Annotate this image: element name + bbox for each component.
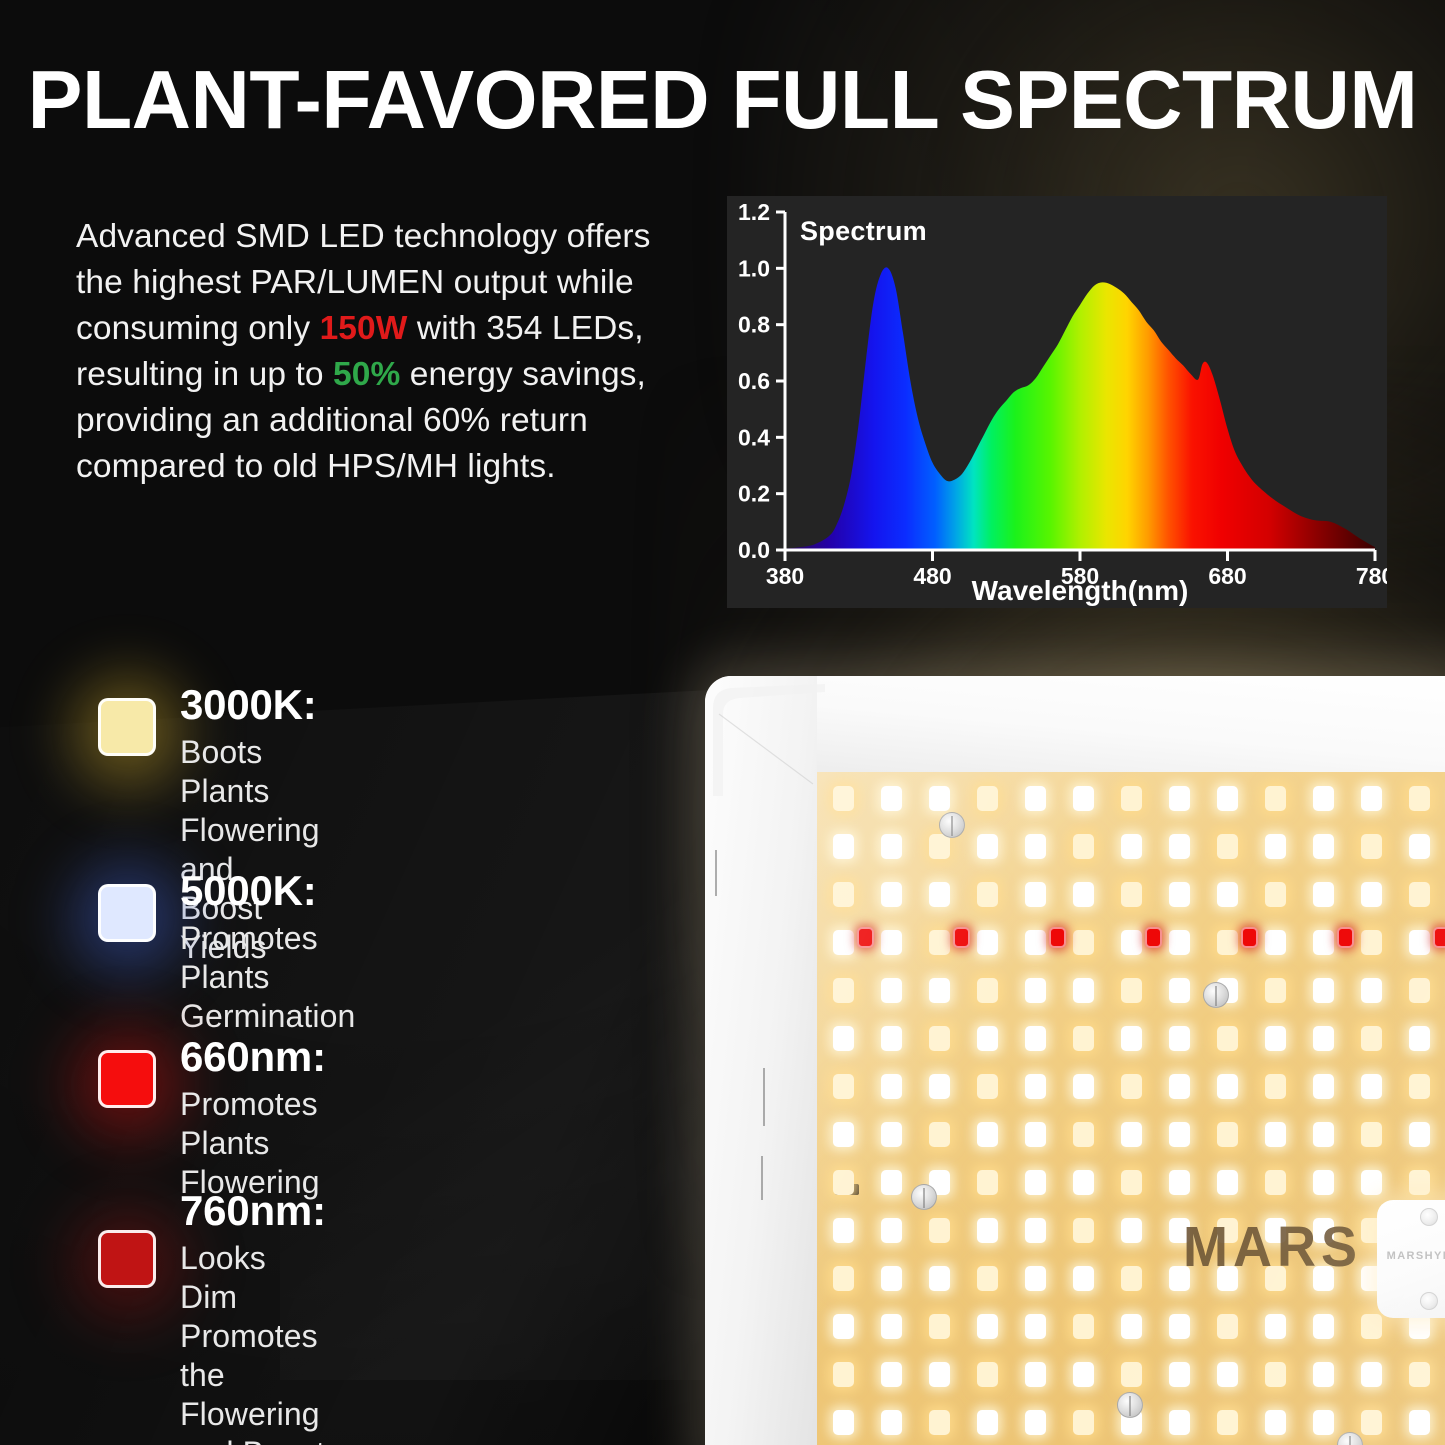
led-diode [929,1026,950,1051]
led-diode [1313,1026,1334,1051]
led-diode-red [1049,927,1066,948]
y-axis-tick: 1.2 [738,199,770,225]
led-diode [977,1314,998,1339]
led-diode [977,1410,998,1435]
led-diode [1361,1410,1382,1435]
led-diode [1121,1170,1142,1195]
led-diode [1169,882,1190,907]
spec-description: Promotes Plants Flowering [180,1085,326,1202]
led-diode [1073,1410,1094,1435]
panel-edge-tick [761,1156,763,1200]
led-chip-icon [98,884,156,942]
led-diode [929,1266,950,1291]
spec-title: 760nm: [180,1186,326,1236]
led-diode [1073,1266,1094,1291]
led-diode [1121,1026,1142,1051]
led-diode [881,978,902,1003]
highlight-power: 150W [320,310,408,347]
spec-title: 3000K: [180,680,320,730]
spectrum-chart: 0.00.20.40.60.81.01.2 380480580680780 Wa… [727,196,1387,608]
led-diode [1265,834,1286,859]
screw-icon [1337,1432,1363,1445]
led-diode [1169,978,1190,1003]
led-diode [1217,1410,1238,1435]
spectrum-area [785,267,1375,550]
led-diode-red [1337,927,1354,948]
led-diode [1073,978,1094,1003]
led-diode [881,1362,902,1387]
led-diode [1217,786,1238,811]
led-diode [1361,834,1382,859]
x-axis-label: Wavelength(nm) [972,575,1189,606]
led-diode [1073,1362,1094,1387]
led-swatch-660nm [76,1032,180,1136]
led-diode [833,1314,854,1339]
led-diode [1217,882,1238,907]
led-diode [977,1170,998,1195]
led-diode [833,1122,854,1147]
spec-description-line-1: Boots Plants Flowering [180,733,320,850]
led-diode [977,1026,998,1051]
led-diode [929,1074,950,1099]
led-diode [929,834,950,859]
product-led-panel: MARSHY MARSHYDRO [705,676,1445,1445]
led-diode [1073,1026,1094,1051]
led-diode [929,930,950,955]
led-diode [977,834,998,859]
led-diode [1025,1074,1046,1099]
led-diode [881,786,902,811]
led-diode [1073,786,1094,811]
led-chip-icon [98,1050,156,1108]
led-diode [977,1074,998,1099]
led-diode [1025,1362,1046,1387]
led-diode [1073,1074,1094,1099]
led-diode [833,1170,854,1195]
spec-text-660nm: 660nm: Promotes Plants Flowering [180,1032,326,1202]
led-diode [1169,1170,1190,1195]
led-diode [833,1218,854,1243]
led-diode [1361,1170,1382,1195]
led-diode [1073,1218,1094,1243]
description-paragraph: Advanced SMD LED technology offers the h… [76,214,688,490]
driver-screw-top-icon [1420,1208,1438,1226]
led-diode [977,1362,998,1387]
led-swatch-760nm [76,1212,180,1316]
led-diode-red [1433,927,1445,948]
led-diode [977,1266,998,1291]
led-diode [1265,930,1286,955]
led-diode [1025,882,1046,907]
led-diode [1121,1314,1142,1339]
led-diode [1361,1074,1382,1099]
screw-icon [939,812,965,838]
led-diode [1169,1314,1190,1339]
led-diode [1217,1314,1238,1339]
led-swatch-3000k [76,680,180,784]
led-diode [1265,786,1286,811]
led-diode [1121,1266,1142,1291]
spec-description-line-1: Promotes Plants Flowering [180,1085,326,1202]
led-diode [1313,1170,1334,1195]
led-diode [881,1026,902,1051]
led-diode [833,786,854,811]
spec-text-760nm: 760nm: Looks Dim Promotes the Flowering … [180,1186,326,1445]
led-diode [1361,786,1382,811]
spectrum-curve-group [785,267,1375,550]
led-diode [1073,1122,1094,1147]
led-diode [1025,1026,1046,1051]
led-diode [1217,930,1238,955]
led-diode [977,1122,998,1147]
y-axis-tick-labels: 0.00.20.40.60.81.01.2 [738,199,770,563]
led-board-sheen [817,772,1445,1445]
led-diode [1409,1362,1430,1387]
led-chip-icon [98,698,156,756]
led-diode [1409,1074,1430,1099]
led-swatch-5000k [76,866,180,970]
led-diode [929,1122,950,1147]
y-axis-tick: 0.6 [738,368,770,394]
led-diode [1313,882,1334,907]
led-diode-red [953,927,970,948]
led-diode [1409,834,1430,859]
led-diode [833,1362,854,1387]
led-diode [1025,1218,1046,1243]
led-diode [1217,1170,1238,1195]
led-diode [1073,834,1094,859]
led-diode [1073,882,1094,907]
led-diode [1217,1122,1238,1147]
led-diode-red [1241,927,1258,948]
led-chip-icon [98,1230,156,1288]
led-diode [1265,1362,1286,1387]
led-diode [1265,1410,1286,1435]
led-diode [1313,786,1334,811]
led-diode [929,786,950,811]
led-diode [881,1170,902,1195]
led-diode [1025,930,1046,955]
led-board: MARSHY MARSHYDRO [817,772,1445,1445]
spec-description-line-1: Promotes Plants Germination [180,919,355,1036]
led-diode [1265,1074,1286,1099]
y-axis-tick: 0.8 [738,312,770,338]
led-diode [1121,1122,1142,1147]
y-axis-tick: 1.0 [738,255,770,281]
page-title: PLANT-FAVORED FULL SPECTRUM [7,52,1438,148]
led-diode [977,930,998,955]
led-diode [1265,1314,1286,1339]
x-axis-tick: 380 [766,563,804,589]
led-diode [1169,1074,1190,1099]
panel-edge-tick [715,850,717,896]
led-diode [1217,1074,1238,1099]
led-diode [1313,834,1334,859]
led-diode [929,1410,950,1435]
led-diode [1313,1314,1334,1339]
led-diode [977,882,998,907]
led-diode [1313,978,1334,1003]
y-axis-tick: 0.0 [738,537,770,563]
led-diode [1409,882,1430,907]
led-diode [977,1218,998,1243]
led-diode [977,978,998,1003]
led-diode [1073,930,1094,955]
spec-description: Promotes Plants Germination [180,919,355,1036]
led-diode [1217,1362,1238,1387]
led-diode [1121,978,1142,1003]
driver-screw-bottom-icon [1420,1292,1438,1310]
led-diode [1409,1170,1430,1195]
led-diode [1169,1026,1190,1051]
led-diode [881,1314,902,1339]
led-diode [1313,930,1334,955]
led-diode [1361,1314,1382,1339]
screw-icon [1203,982,1229,1008]
led-diode [1217,834,1238,859]
product-infographic: PLANT-FAVORED FULL SPECTRUM Advanced SMD… [0,0,1445,1445]
y-axis-tick: 0.2 [738,481,770,507]
led-diode [1121,930,1142,955]
spec-description-line-1: Looks Dim Promotes the [180,1239,326,1395]
led-diode [1121,1362,1142,1387]
led-diode [833,1266,854,1291]
led-diode [1169,1410,1190,1435]
led-diode [1169,1362,1190,1387]
led-diode [1121,834,1142,859]
led-diode [1025,1410,1046,1435]
led-diode [1217,1026,1238,1051]
spec-title: 5000K: [180,866,355,916]
led-diode [1121,786,1142,811]
led-diode [881,930,902,955]
led-diode [881,1410,902,1435]
driver-module: MARSHYDRO [1377,1200,1445,1318]
led-diode [1265,978,1286,1003]
led-diode [1361,978,1382,1003]
led-diode [1121,1218,1142,1243]
x-axis-tick: 780 [1356,563,1387,589]
led-diode [881,834,902,859]
led-diode [1265,1122,1286,1147]
spec-title: 660nm: [180,1032,326,1082]
led-diode [1025,1266,1046,1291]
led-diode [1025,834,1046,859]
highlight-savings: 50% [333,356,400,393]
led-diode-red [857,927,874,948]
led-diode [833,1410,854,1435]
screw-icon [911,1184,937,1210]
led-diode [1409,1122,1430,1147]
led-diode [1313,1362,1334,1387]
led-diode [833,834,854,859]
led-diode [1313,1074,1334,1099]
led-diode [1409,1410,1430,1435]
x-axis-tick: 680 [1208,563,1246,589]
driver-label: MARSHYDRO [1377,1250,1445,1262]
screw-icon [1117,1392,1143,1418]
led-diode [1169,1122,1190,1147]
panel-corner-bevel [713,684,825,796]
led-diode [1265,1170,1286,1195]
led-diode [1361,930,1382,955]
led-diode [1313,1410,1334,1435]
spec-description: Looks Dim Promotes the Flowering and Boo… [180,1239,326,1445]
led-diode [833,930,854,955]
led-diode [1265,1026,1286,1051]
led-diode [1361,1122,1382,1147]
led-diode [1025,1170,1046,1195]
led-diode [1265,882,1286,907]
led-diode [881,882,902,907]
led-diode [833,1074,854,1099]
led-diode-red [1145,927,1162,948]
led-diode [1361,1362,1382,1387]
led-diode [1409,978,1430,1003]
led-diode [1025,978,1046,1003]
led-diode [929,978,950,1003]
led-diode [929,1218,950,1243]
led-diode [1025,1314,1046,1339]
led-diode [929,882,950,907]
led-diode [1073,1170,1094,1195]
led-diode [1025,786,1046,811]
led-diode [1409,1026,1430,1051]
led-diode [881,1122,902,1147]
led-diode [881,1218,902,1243]
led-diode [833,1026,854,1051]
led-diode [1025,1122,1046,1147]
led-diode [1409,930,1430,955]
led-diode [1361,882,1382,907]
panel-top-edge [797,676,1445,772]
panel-edge-tick [763,1068,765,1126]
led-diode [1313,1122,1334,1147]
led-diode [977,786,998,811]
spec-text-5000k: 5000K: Promotes Plants Germination [180,866,355,1036]
y-axis-tick: 0.4 [738,424,770,450]
led-diode [929,1314,950,1339]
led-diode [1121,882,1142,907]
led-diode [833,978,854,1003]
led-diode [1169,834,1190,859]
spec-description-line-2: Flowering and Boost Yields [180,1395,326,1445]
led-diode [1121,1074,1142,1099]
led-diode [1169,930,1190,955]
led-diode [1169,786,1190,811]
led-diode [1361,1026,1382,1051]
led-diode [929,1362,950,1387]
brand-logo-left: MARS [1183,1214,1362,1279]
led-diode [1409,786,1430,811]
led-diode [881,1266,902,1291]
led-diode [833,882,854,907]
led-diode [1073,1314,1094,1339]
led-diode [881,1074,902,1099]
x-axis-tick: 480 [913,563,951,589]
